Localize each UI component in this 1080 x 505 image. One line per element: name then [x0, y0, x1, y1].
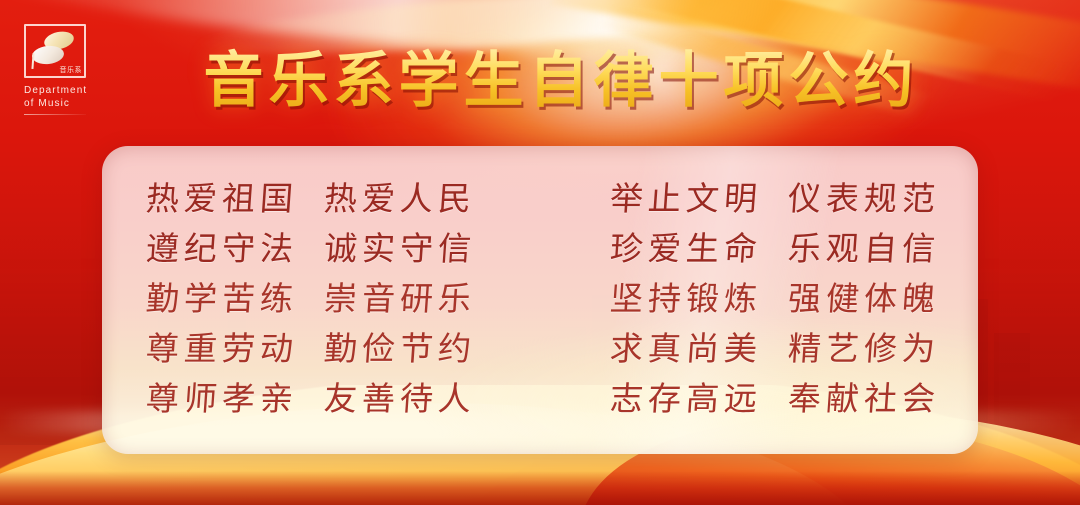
pledge-col-right: 求真尚美 精艺修为	[543, 327, 940, 371]
pledge-phrase: 坚持锻炼	[608, 277, 763, 321]
pledge-phrase: 强健体魄	[786, 277, 941, 321]
pledge-col-left: 勤学苦练 崇音研乐	[146, 277, 527, 321]
pledge-phrase: 友善待人	[322, 377, 477, 421]
pledge-row: 热爱祖国 热爱人民 举止文明 仪表规范	[146, 174, 940, 224]
pledge-phrase: 遵纪守法	[144, 227, 299, 271]
pledge-col-left: 尊重劳动 勤俭节约	[146, 327, 527, 371]
pledge-phrase: 崇音研乐	[322, 277, 477, 321]
pledge-row: 尊师孝亲 友善待人 志存高远 奉献社会	[146, 374, 940, 424]
pledge-phrase: 珍爱生命	[608, 227, 763, 271]
pledge-phrase: 诚实守信	[322, 227, 477, 271]
pledge-col-right: 坚持锻炼 强健体魄	[543, 277, 940, 321]
pledge-col-left: 尊师孝亲 友善待人	[146, 377, 527, 421]
pledge-col-left: 热爱祖国 热爱人民	[146, 177, 527, 221]
pledge-phrase: 乐观自信	[786, 227, 941, 271]
pledge-phrase: 求真尚美	[608, 327, 763, 371]
pledge-phrase: 热爱祖国	[144, 177, 299, 221]
pledge-phrase: 勤学苦练	[144, 277, 299, 321]
pledge-phrase: 奉献社会	[786, 377, 941, 421]
pledge-phrase: 志存高远	[608, 377, 763, 421]
pledge-panel: 热爱祖国 热爱人民 举止文明 仪表规范 遵纪守法 诚实守信 珍爱生命 乐观自信 …	[102, 146, 978, 454]
page-title: 音乐系学生自律十项公约	[0, 46, 1080, 116]
pledge-col-left: 遵纪守法 诚实守信	[146, 227, 527, 271]
pledge-phrase: 尊重劳动	[144, 327, 299, 371]
pledge-phrase: 举止文明	[608, 177, 763, 221]
pledge-col-right: 志存高远 奉献社会	[543, 377, 940, 421]
pledge-phrase: 热爱人民	[322, 177, 477, 221]
pledge-phrase: 精艺修为	[786, 327, 941, 371]
pledge-col-right: 举止文明 仪表规范	[543, 177, 940, 221]
pledge-row: 遵纪守法 诚实守信 珍爱生命 乐观自信	[146, 224, 940, 274]
pledge-phrase: 勤俭节约	[322, 327, 477, 371]
pledge-phrase: 尊师孝亲	[144, 377, 299, 421]
pledge-phrase: 仪表规范	[786, 177, 941, 221]
pledge-row: 尊重劳动 勤俭节约 求真尚美 精艺修为	[146, 324, 940, 374]
pledge-row: 勤学苦练 崇音研乐 坚持锻炼 强健体魄	[146, 274, 940, 324]
poster-root: 音乐系 Department of Music 音乐系学生自律十项公约 热爱祖国…	[0, 0, 1080, 505]
pledge-col-right: 珍爱生命 乐观自信	[543, 227, 940, 271]
